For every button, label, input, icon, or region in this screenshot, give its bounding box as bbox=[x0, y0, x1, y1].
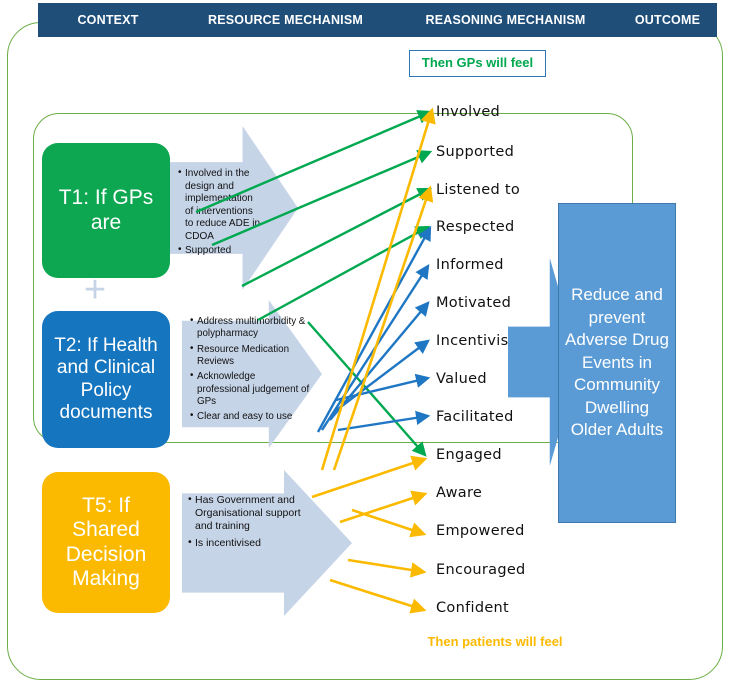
patient-feeling-encouraged: Encouraged bbox=[436, 562, 556, 582]
header-column-1: RESOURCE MECHANISM bbox=[178, 3, 393, 37]
resource-bullets-t5: Has Government and Organisational suppor… bbox=[188, 494, 312, 553]
column-header-band: CONTEXTRESOURCE MECHANISMREASONING MECHA… bbox=[38, 3, 717, 37]
patient-feeling-aware: Aware bbox=[436, 485, 556, 505]
patient-feeling-empowered: Empowered bbox=[436, 523, 556, 543]
bullet-item: Address multimorbidity & polypharmacy bbox=[190, 316, 310, 341]
header-column-2: REASONING MECHANISM bbox=[393, 3, 618, 37]
plus-icon: + bbox=[80, 277, 110, 307]
header-column-0: CONTEXT bbox=[38, 3, 178, 37]
diagram-canvas: CONTEXTRESOURCE MECHANISMREASONING MECHA… bbox=[0, 0, 737, 688]
gp-feeling-motivated: Motivated bbox=[436, 295, 556, 315]
gp-feeling-listened-to: Listened to bbox=[436, 182, 556, 202]
caption-then-gps-will-feel: Then GPs will feel bbox=[409, 50, 546, 77]
bullet-item: Is incentivised bbox=[188, 537, 312, 550]
resource-bullets-t2: Address multimorbidity & polypharmacyRes… bbox=[190, 316, 310, 427]
patient-feeling-confident: Confident bbox=[436, 600, 556, 620]
caption-then-patients-will-feel: Then patients will feel bbox=[380, 634, 610, 654]
gp-feeling-informed: Informed bbox=[436, 257, 556, 277]
gp-feeling-supported: Supported bbox=[436, 144, 556, 164]
bullet-item: Has Government and Organisational suppor… bbox=[188, 494, 312, 534]
header-column-3: OUTCOME bbox=[618, 3, 717, 37]
gp-feeling-facilitated: Facilitated bbox=[436, 409, 556, 429]
bullet-item: Involved in the design and implementatio… bbox=[178, 168, 262, 244]
bullet-item: Supported bbox=[178, 245, 262, 258]
bullet-item: Clear and easy to use bbox=[190, 411, 310, 423]
bullet-item: Resource Medication Reviews bbox=[190, 344, 310, 369]
outcome-box[interactable]: Reduce and prevent Adverse Drug Events i… bbox=[558, 203, 676, 523]
context-box-t1[interactable]: T1: If GPs are bbox=[42, 143, 170, 278]
gp-feeling-involved: Involved bbox=[436, 104, 556, 124]
bullet-item: Acknowledge professional judgement of GP… bbox=[190, 371, 310, 408]
resource-bullets-t1: Involved in the design and implementatio… bbox=[178, 168, 262, 258]
context-box-t2[interactable]: T2: If Health and Clinical Policy docume… bbox=[42, 311, 170, 448]
gp-feeling-respected: Respected bbox=[436, 219, 556, 239]
gp-feeling-engaged: Engaged bbox=[436, 447, 556, 467]
context-box-t5[interactable]: T5: If Shared Decision Making bbox=[42, 472, 170, 613]
